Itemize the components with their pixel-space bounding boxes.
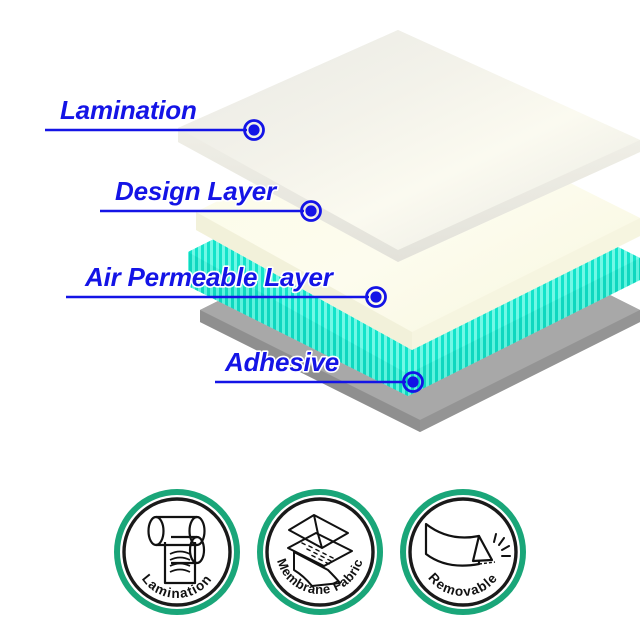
badge-removable[interactable]: Removable — [399, 488, 527, 616]
callout-dot-design-layer[interactable] — [305, 205, 316, 216]
callout-lamination[interactable]: Lamination — [45, 95, 264, 140]
callout-label-design-layer: Design Layer — [115, 176, 278, 206]
callout-air-permeable-layer[interactable]: Air Permeable Layer — [66, 262, 386, 307]
callout-dot-adhesive[interactable] — [407, 376, 418, 387]
callout-label-adhesive: Adhesive — [224, 347, 339, 377]
diagram-stage: Lamination Design Layer Air Permeable La… — [0, 0, 640, 640]
callout-label-lamination: Lamination — [60, 95, 197, 125]
callout-design-layer[interactable]: Design Layer — [100, 176, 321, 221]
badge-lamination[interactable]: Lamination — [113, 488, 241, 616]
callout-dot-air-permeable-layer[interactable] — [370, 291, 381, 302]
callout-adhesive[interactable]: Adhesive — [215, 347, 423, 392]
callout-label-air-permeable-layer: Air Permeable Layer — [84, 262, 335, 292]
feature-badge-row: Lamination — [0, 488, 640, 628]
callout-dot-lamination[interactable] — [248, 124, 259, 135]
badge-membrane-fabric[interactable]: Membrane Fabric — [256, 488, 384, 616]
